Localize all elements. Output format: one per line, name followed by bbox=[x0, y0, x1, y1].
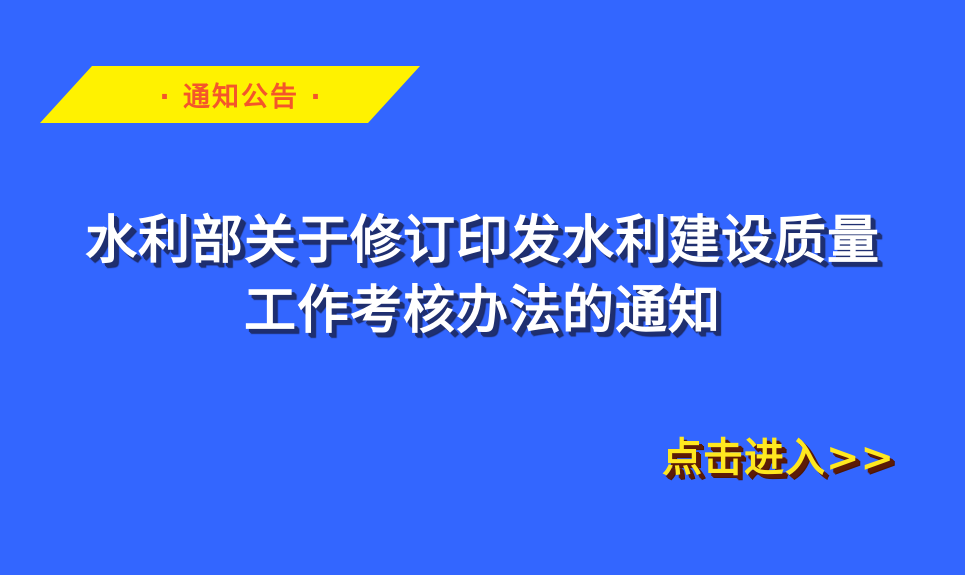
notice-banner-canvas: · 通知公告 · 水利部关于修订印发水利建设质量 工作考核办法的通知 点击进入>… bbox=[0, 0, 965, 575]
notice-headline-line-1: 水利部关于修订印发水利建设质量 bbox=[0, 206, 965, 276]
notice-headline-line-2: 工作考核办法的通知 bbox=[0, 276, 965, 346]
notice-category-label: · 通知公告 · bbox=[40, 66, 420, 123]
enter-link[interactable]: 点击进入>> bbox=[662, 432, 895, 484]
notice-category-ribbon: · 通知公告 · bbox=[40, 66, 420, 123]
notice-headline: 水利部关于修订印发水利建设质量 工作考核办法的通知 bbox=[0, 206, 965, 346]
